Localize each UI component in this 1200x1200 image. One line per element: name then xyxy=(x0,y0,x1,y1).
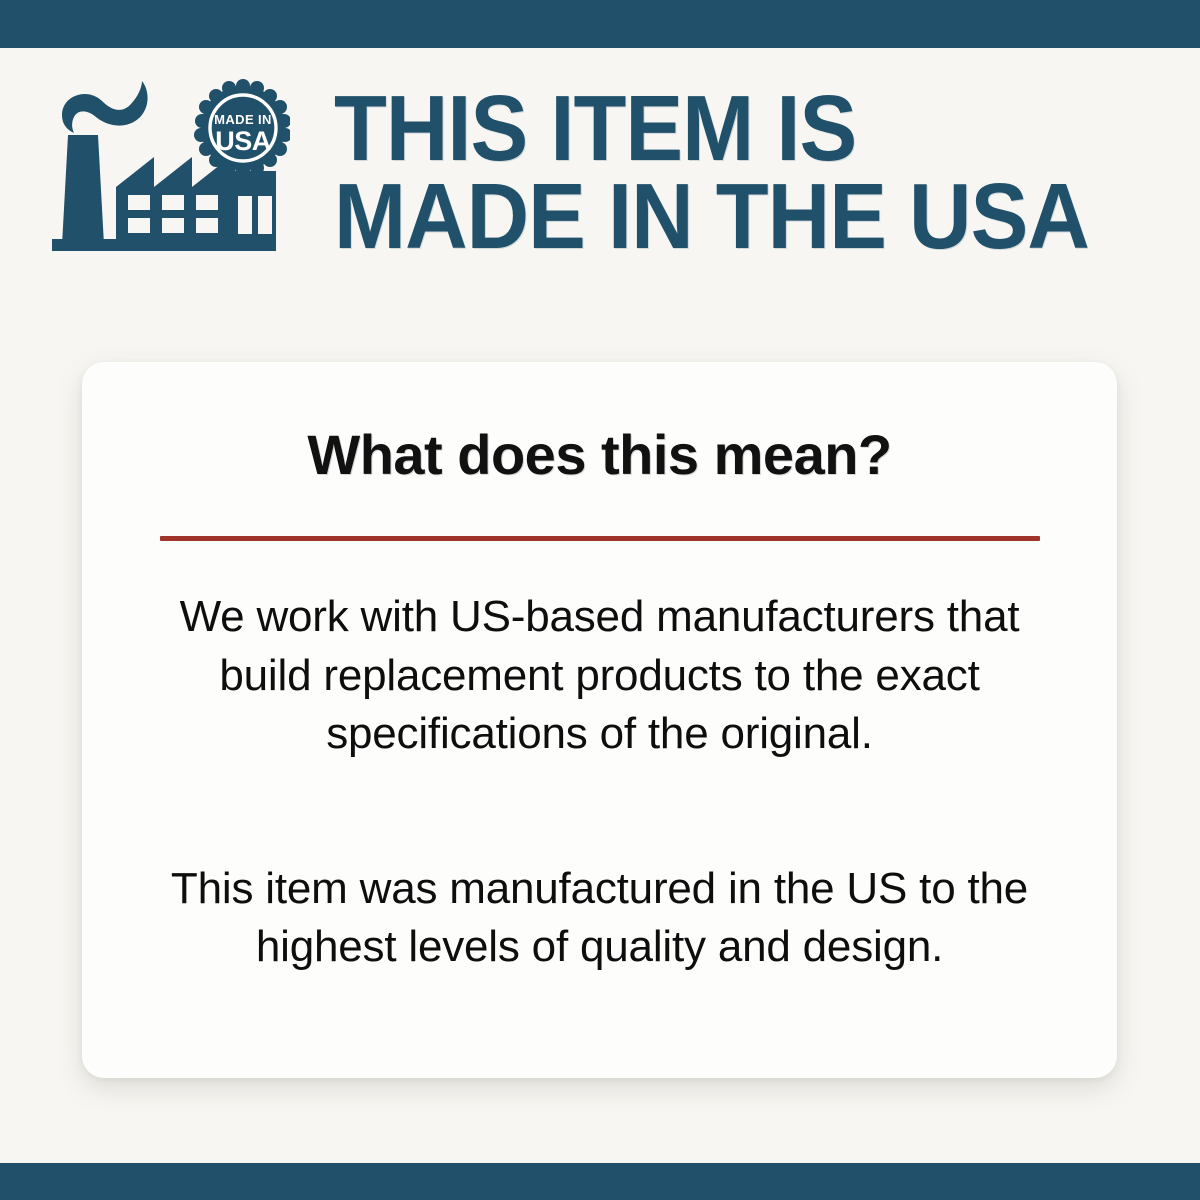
made-in-usa-badge-icon: MADE IN USA xyxy=(194,79,290,177)
factory-icon: MADE IN USA xyxy=(46,79,290,265)
top-accent-bar xyxy=(0,0,1200,48)
heading-divider xyxy=(160,536,1040,541)
card-paragraph-1: We work with US-based manufacturers that… xyxy=(130,588,1069,764)
bottom-accent-bar xyxy=(0,1163,1200,1200)
badge-line1-text: MADE IN xyxy=(214,112,272,127)
header-inner: MADE IN USA THIS ITEM IS MADE IN THE USA xyxy=(46,79,1146,265)
card-heading: What does this mean? xyxy=(82,422,1117,487)
header-banner: MADE IN USA THIS ITEM IS MADE IN THE USA xyxy=(0,48,1200,296)
card-paragraph-2: This item was manufactured in the US to … xyxy=(130,860,1069,977)
info-card: What does this mean? We work with US-bas… xyxy=(82,362,1117,1078)
page-title-line-1: THIS ITEM IS xyxy=(334,84,1089,172)
badge-line2-text: USA xyxy=(215,126,271,156)
page-title: THIS ITEM IS MADE IN THE USA xyxy=(334,84,1089,261)
card-body: We work with US-based manufacturers that… xyxy=(130,588,1069,977)
page-title-line-2: MADE IN THE USA xyxy=(334,172,1089,260)
